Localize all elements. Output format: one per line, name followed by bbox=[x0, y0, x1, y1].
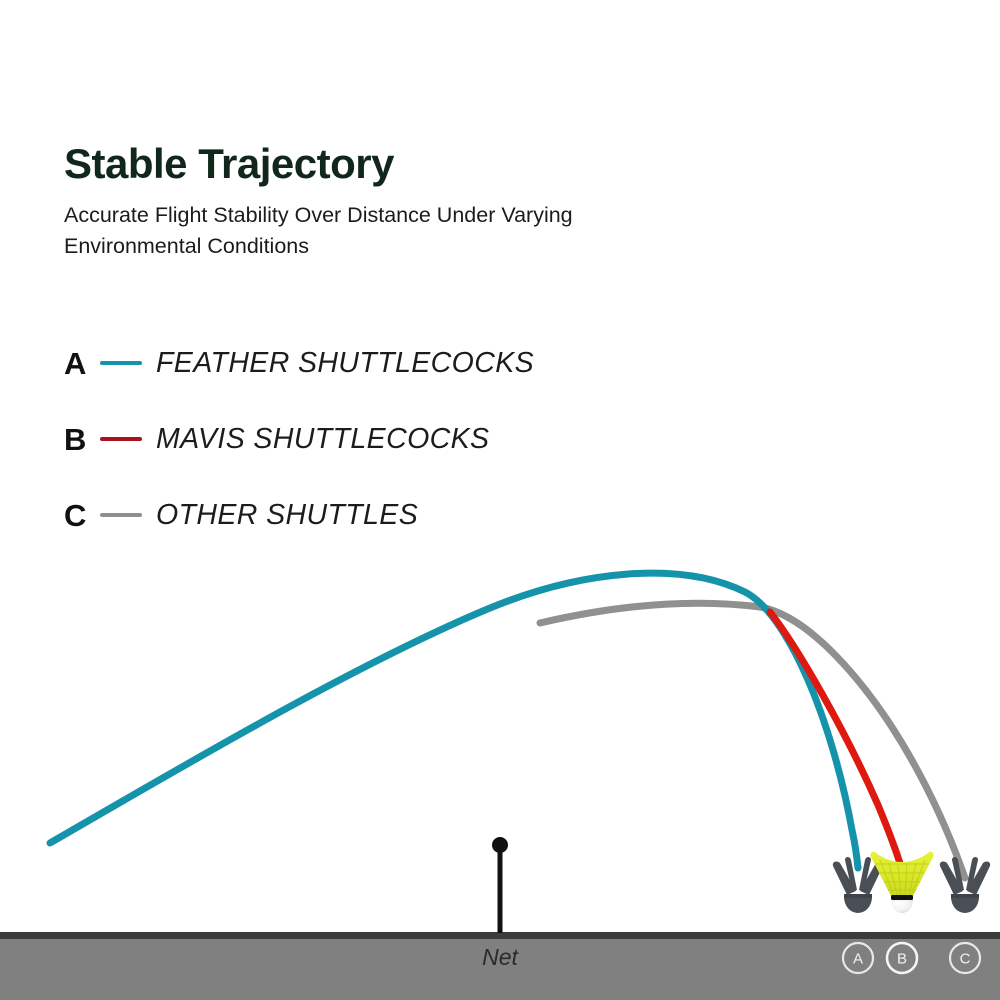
marker-label-c: C bbox=[960, 951, 971, 968]
shuttle-c-feather[interactable] bbox=[940, 857, 990, 913]
net-post-cap bbox=[492, 837, 508, 853]
shuttle-cork-base bbox=[844, 897, 872, 913]
trajectory-infographic: Stable Trajectory Accurate Flight Stabil… bbox=[0, 0, 1000, 1000]
ground-fill bbox=[0, 938, 1000, 1000]
shuttle-cork-band bbox=[844, 894, 872, 898]
trajectory-c-other-shuttles bbox=[540, 603, 965, 878]
ground bbox=[0, 932, 1000, 1000]
trajectory-b-mavis-shuttlecocks bbox=[770, 612, 902, 870]
shuttle-cork-band bbox=[951, 894, 979, 898]
trajectory-scene: A B C bbox=[0, 0, 1000, 1000]
net-post bbox=[492, 837, 508, 933]
ground-edge-strip bbox=[0, 932, 1000, 939]
marker-label-b: B bbox=[897, 951, 907, 968]
marker-label-a: A bbox=[853, 951, 863, 968]
shuttle-cork-band bbox=[891, 895, 913, 900]
shuttle-cork-base bbox=[891, 900, 913, 913]
shuttle-cork-base bbox=[951, 897, 979, 913]
trajectory-a-feather-shuttlecocks bbox=[50, 573, 858, 868]
